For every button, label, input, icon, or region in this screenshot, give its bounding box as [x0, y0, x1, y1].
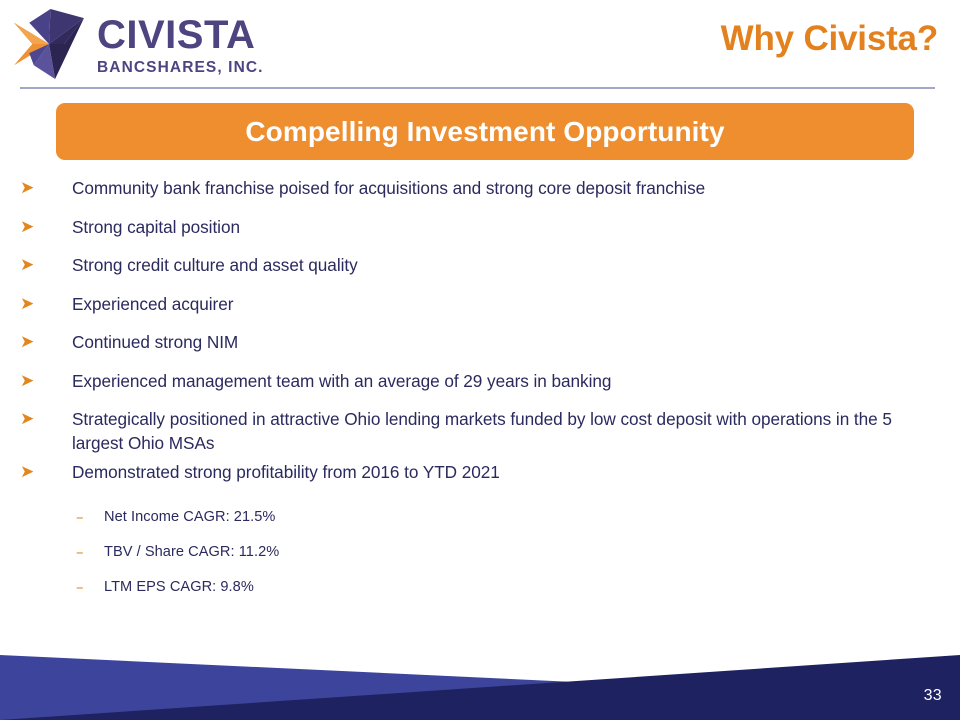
arrow-bullet-icon: ➤ [20, 407, 72, 431]
logo-company-name: CIVISTA [97, 16, 255, 55]
dash-bullet-icon: – [76, 506, 104, 528]
list-item: ➤ Continued strong NIM [0, 330, 960, 369]
civista-logo: CIVISTA BANCSHARES, INC. [10, 6, 264, 82]
civista-wordmark: CIVISTA BANCSHARES, INC. [97, 13, 264, 76]
list-item: ➤ Strong credit culture and asset qualit… [0, 253, 960, 292]
list-item-text: Continued strong NIM [72, 330, 960, 354]
footer-decoration [0, 620, 960, 720]
page-title: Why Civista? [721, 19, 938, 59]
list-item: ➤ Experienced management team with an av… [0, 369, 960, 408]
sub-list-item-text: LTM EPS CAGR: 9.8% [104, 576, 960, 598]
slide-header: CIVISTA BANCSHARES, INC. Why Civista? [0, 0, 960, 90]
logo-company-subtitle: BANCSHARES, INC. [97, 60, 264, 76]
arrow-bullet-icon: ➤ [20, 292, 72, 316]
arrow-bullet-icon: ➤ [20, 460, 72, 484]
list-item: ➤ Strategically positioned in attractive… [0, 407, 960, 460]
arrow-bullet-icon: ➤ [20, 176, 72, 200]
civista-star-logo-icon [10, 6, 88, 82]
spacer [0, 499, 960, 506]
list-item-text: Experienced acquirer [72, 292, 960, 316]
list-item-text: Strong credit culture and asset quality [72, 253, 960, 277]
header-divider [20, 87, 935, 89]
page-number: 33 [924, 687, 942, 705]
sub-list-item-text: TBV / Share CAGR: 11.2% [104, 541, 960, 563]
sub-list-item: – TBV / Share CAGR: 11.2% [0, 541, 960, 576]
sub-list-item: – LTM EPS CAGR: 9.8% [0, 576, 960, 611]
list-item: ➤ Community bank franchise poised for ac… [0, 176, 960, 215]
slide-footer: 33 [0, 620, 960, 720]
list-item: ➤ Demonstrated strong profitability from… [0, 460, 960, 499]
sub-list-item: – Net Income CAGR: 21.5% [0, 506, 960, 541]
section-banner: Compelling Investment Opportunity [56, 103, 914, 160]
bullet-list: ➤ Community bank franchise poised for ac… [0, 176, 960, 611]
dash-bullet-icon: – [76, 576, 104, 598]
slide: CIVISTA BANCSHARES, INC. Why Civista? Co… [0, 0, 960, 720]
sub-list-item-text: Net Income CAGR: 21.5% [104, 506, 960, 528]
list-item-text: Demonstrated strong profitability from 2… [72, 460, 960, 484]
list-item: ➤ Strong capital position [0, 215, 960, 254]
list-item-text: Strong capital position [72, 215, 960, 239]
arrow-bullet-icon: ➤ [20, 253, 72, 277]
list-item-text: Community bank franchise poised for acqu… [72, 176, 960, 200]
list-item-text: Experienced management team with an aver… [72, 369, 960, 393]
arrow-bullet-icon: ➤ [20, 215, 72, 239]
arrow-bullet-icon: ➤ [20, 330, 72, 354]
dash-bullet-icon: – [76, 541, 104, 563]
section-banner-title: Compelling Investment Opportunity [245, 116, 724, 148]
arrow-bullet-icon: ➤ [20, 369, 72, 393]
list-item-text: Strategically positioned in attractive O… [72, 407, 960, 455]
list-item: ➤ Experienced acquirer [0, 292, 960, 331]
